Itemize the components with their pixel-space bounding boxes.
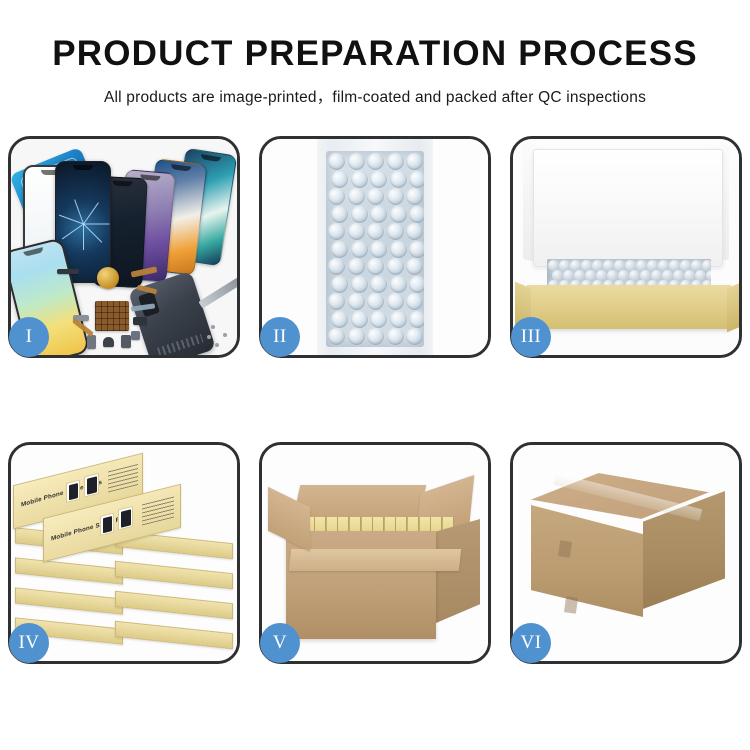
phone-notch-icon (73, 165, 93, 170)
bubble-icon (367, 188, 384, 205)
retail-box-screen-thumb (100, 513, 114, 536)
bubble-icon (406, 153, 423, 170)
bubble-icon (348, 258, 365, 275)
retail-box-edge (115, 591, 233, 619)
step-3-image (513, 139, 739, 355)
bubble-icon (351, 311, 368, 328)
retail-box-edge (115, 561, 233, 589)
bubble-icon (387, 223, 404, 240)
bubble-icon (367, 328, 384, 345)
tape-tab-icon (558, 540, 572, 558)
bubble-icon (351, 171, 368, 188)
bubble-icon (390, 311, 407, 328)
copper-coil-icon (97, 267, 119, 289)
bubble-icon (409, 241, 424, 258)
retail-box-screen-thumb (66, 480, 80, 503)
phone-notch-icon (23, 247, 44, 257)
retail-box-screen-thumb (118, 506, 133, 531)
bubble-icon (331, 311, 348, 328)
crack-line-icon (83, 224, 102, 243)
bubble-icon (390, 206, 407, 223)
step-2-image (262, 139, 488, 355)
step-badge-4: IV (9, 623, 49, 663)
bubble-icon (370, 276, 387, 293)
bubble-icon (367, 153, 384, 170)
bubble-icon (390, 171, 407, 188)
step-badge-5: V (260, 623, 300, 663)
crack-line-icon (83, 203, 99, 225)
bubble-icon (409, 171, 424, 188)
bubble-icon (328, 223, 345, 240)
bubble-icon (406, 293, 423, 310)
bubble-icon (351, 276, 368, 293)
bubble-icon (387, 258, 404, 275)
bubble-icon (370, 206, 387, 223)
spare-part-icon (87, 335, 96, 349)
bubble-icon (406, 328, 423, 345)
bubble-icon (406, 258, 423, 275)
spare-part-icon (57, 269, 79, 274)
bubble-icon (328, 328, 345, 345)
bubble-icon (331, 241, 348, 258)
page-title: PRODUCT PREPARATION PROCESS (0, 36, 750, 73)
step-badge-6: VI (511, 623, 551, 663)
screw-icon (223, 333, 227, 337)
bubble-icon (348, 328, 365, 345)
process-step-2[interactable]: II (259, 136, 491, 358)
crack-line-icon (84, 224, 110, 225)
bubble-icon (348, 223, 365, 240)
bubble-icon (387, 293, 404, 310)
bubble-icon (328, 258, 345, 275)
bubble-icon (370, 241, 387, 258)
bubble-icon (328, 293, 345, 310)
white-foam-padding (533, 149, 723, 267)
carton-flap-front-icon (289, 549, 461, 571)
spare-part-icon (131, 331, 140, 340)
bubble-icon (370, 171, 387, 188)
bubble-icon (328, 188, 345, 205)
spare-part-icon (121, 335, 131, 348)
process-step-grid: I II III (8, 136, 742, 682)
crack-line-icon (83, 224, 84, 250)
bubble-icon (370, 311, 387, 328)
bubble-icon (367, 293, 384, 310)
bubble-icon (406, 223, 423, 240)
step-6-image (513, 445, 739, 661)
bubble-icon (387, 153, 404, 170)
process-step-1[interactable]: I (8, 136, 240, 358)
bubble-icon (387, 188, 404, 205)
step-badge-3: III (511, 317, 551, 357)
page-subtitle: All products are image-printed，film-coat… (0, 85, 750, 107)
process-step-3[interactable]: III (510, 136, 742, 358)
spare-part-icon (103, 337, 114, 347)
bubble-icon (331, 276, 348, 293)
bubble-icon (351, 241, 368, 258)
spare-part-icon (133, 317, 147, 325)
screw-icon (211, 325, 215, 329)
kraft-box-tray (527, 285, 731, 329)
bubble-icon (406, 188, 423, 205)
step-1-image (11, 139, 237, 355)
retail-box-edge (115, 621, 233, 649)
retail-box-edge (15, 557, 123, 584)
bubble-icon (387, 328, 404, 345)
bubble-icon (390, 276, 407, 293)
phone-notch-icon (200, 154, 221, 162)
bubble-icon (367, 258, 384, 275)
bubble-icon (409, 276, 424, 293)
bubble-icon (367, 223, 384, 240)
step-5-image (262, 445, 488, 661)
process-step-6[interactable]: VI (510, 442, 742, 664)
bubble-icon (409, 206, 424, 223)
step-badge-2: II (260, 317, 300, 357)
tape-tab-icon (564, 596, 578, 614)
retail-box-edge (15, 587, 123, 614)
bubble-icon (348, 188, 365, 205)
bubble-icon (409, 311, 424, 328)
process-step-4[interactable]: Mobile Phone Spare Parts Mobile Phone Sp… (8, 442, 240, 664)
process-step-5[interactable]: V (259, 442, 491, 664)
bubble-icon (348, 293, 365, 310)
tweezers-icon (198, 277, 237, 308)
bubble-icon (331, 171, 348, 188)
carton-side-panel (436, 519, 480, 623)
screw-icon (207, 335, 211, 339)
bubble-icon (328, 153, 345, 170)
step-4-image: Mobile Phone Spare Parts Mobile Phone Sp… (11, 445, 237, 661)
bubble-wrap-bubbles (326, 151, 424, 347)
step-badge-1: I (9, 317, 49, 357)
crack-line-icon (62, 224, 84, 240)
chip-grid-icon (95, 301, 129, 331)
phone-notch-icon (171, 164, 191, 171)
retail-box-screen-thumb (84, 473, 99, 498)
page-header: PRODUCT PREPARATION PROCESS All products… (0, 0, 750, 107)
phone-notch-icon (112, 181, 132, 187)
retail-box-stack: Mobile Phone Spare Parts Mobile Phone Sp… (11, 445, 237, 661)
carton-front-panel (531, 505, 643, 617)
bubble-icon (351, 206, 368, 223)
bubble-icon (331, 206, 348, 223)
bubble-icon (348, 153, 365, 170)
screw-icon (215, 343, 219, 347)
bubble-icon (390, 241, 407, 258)
